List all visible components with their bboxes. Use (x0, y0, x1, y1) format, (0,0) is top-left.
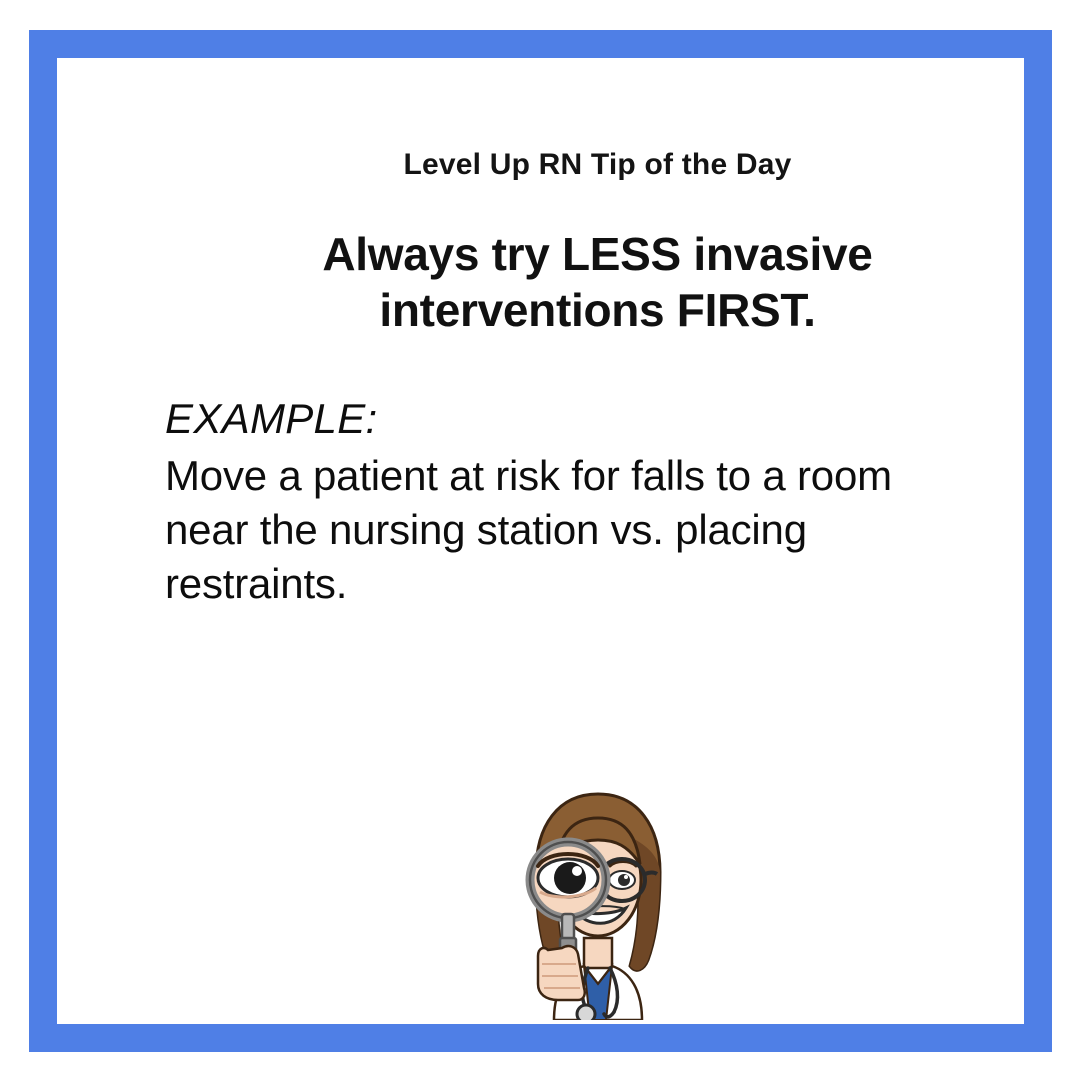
avatar-hand (538, 946, 585, 1000)
example-label: EXAMPLE: (165, 396, 1055, 441)
example-block: EXAMPLE: Move a patient at risk for fall… (165, 396, 1055, 611)
blue-border-frame: Level Up RN Tip of the Day Always try LE… (29, 30, 1052, 1052)
card-content: Level Up RN Tip of the Day Always try LE… (114, 116, 1080, 1082)
page-title: Level Up RN Tip of the Day (114, 148, 1080, 182)
headline-line-1: Always try LESS invasive (114, 226, 1080, 282)
avatar (514, 788, 682, 1020)
headline: Always try LESS invasive interventions F… (114, 226, 1080, 338)
tip-card: Level Up RN Tip of the Day Always try LE… (0, 0, 1080, 1080)
example-text-line-1: Move a patient at risk for falls to a ro… (165, 449, 1055, 503)
example-text-line-2: near the nursing station vs. placing (165, 503, 1055, 557)
example-text: Move a patient at risk for falls to a ro… (165, 449, 1055, 610)
headline-line-2: interventions FIRST. (114, 282, 1080, 338)
example-text-line-3: restraints. (165, 557, 1055, 611)
